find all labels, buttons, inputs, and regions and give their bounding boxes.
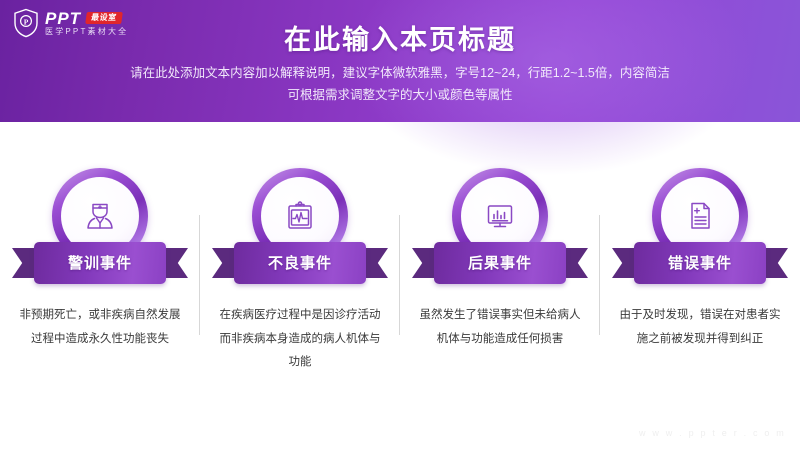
badge: 警训事件 [0,160,200,290]
ribbon-label: 不良事件 [268,256,332,271]
document-plus-icon [680,196,720,236]
subtitle-line-2: 可根据需求调整文字的大小或颜色等属性 [0,85,800,107]
badge: 后果事件 [400,160,600,290]
card-description: 非预期死亡，或非疾病自然发展过程中造成永久性功能丧失 [16,304,184,351]
card-warning-event[interactable]: 警训事件 非预期死亡，或非疾病自然发展过程中造成永久性功能丧失 [0,160,200,410]
subtitle-line-1: 请在此处添加文本内容加以解释说明，建议字体微软雅黑，字号12~24，行距1.2~… [0,63,800,85]
slide-header: P PPT 最设室 医学PPT素材大全 在此输入本页标题 请在此处添加文本内容加… [0,0,800,122]
clipboard-ecg-icon [280,196,320,236]
card-row: 警训事件 非预期死亡，或非疾病自然发展过程中造成永久性功能丧失 [0,160,800,410]
ribbon: 不良事件 [212,242,388,284]
ribbon-body: 不良事件 [234,242,366,284]
badge: 不良事件 [200,160,400,290]
card-consequence-event[interactable]: 后果事件 虽然发生了错误事实但未给病人机体与功能造成任何损害 [400,160,600,410]
card-description: 由于及时发现，错误在对患者实施之前被发现并得到纠正 [616,304,784,351]
ribbon-body: 错误事件 [634,242,766,284]
ribbon: 错误事件 [612,242,788,284]
card-description: 虽然发生了错误事实但未给病人机体与功能造成任何损害 [416,304,584,351]
ribbon: 后果事件 [412,242,588,284]
badge: 错误事件 [600,160,800,290]
ribbon-label: 警训事件 [68,256,132,271]
ribbon: 警训事件 [12,242,188,284]
ribbon-body: 警训事件 [34,242,166,284]
slide: P PPT 最设室 医学PPT素材大全 在此输入本页标题 请在此处添加文本内容加… [0,0,800,450]
card-adverse-event[interactable]: 不良事件 在疾病医疗过程中是因诊疗活动而非疾病本身造成的病人机体与功能 [200,160,400,410]
card-description: 在疾病医疗过程中是因诊疗活动而非疾病本身造成的病人机体与功能 [216,304,384,375]
page-subtitle: 请在此处添加文本内容加以解释说明，建议字体微软雅黑，字号12~24，行距1.2~… [0,63,800,107]
site-watermark: w w w . p p t e r . c o m [639,428,786,438]
ribbon-body: 后果事件 [434,242,566,284]
ribbon-label: 后果事件 [468,256,532,271]
monitor-chart-icon [480,196,520,236]
card-error-event[interactable]: 错误事件 由于及时发现，错误在对患者实施之前被发现并得到纠正 [600,160,800,410]
doctor-icon [80,196,120,236]
page-title: 在此输入本页标题 [0,18,800,57]
ribbon-label: 错误事件 [668,256,732,271]
